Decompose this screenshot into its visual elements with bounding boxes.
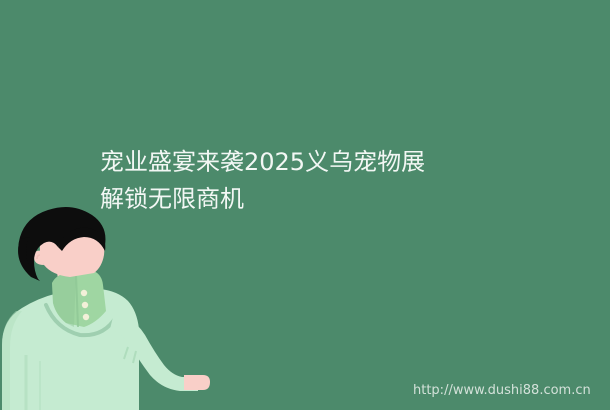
site-url-watermark: http://www.dushi88.com.cn (413, 383, 591, 398)
headline-line-2: 解锁无限商机 (100, 181, 570, 218)
article-banner: 宠业盛宴来袭2025义乌宠物展 解锁无限商机 http://www.dushi8… (0, 0, 610, 410)
headline-line-1: 宠业盛宴来袭2025义乌宠物展 (100, 144, 570, 181)
page-title: 宠业盛宴来袭2025义乌宠物展 解锁无限商机 (100, 144, 570, 218)
person-looking-up-illustration (0, 205, 210, 410)
